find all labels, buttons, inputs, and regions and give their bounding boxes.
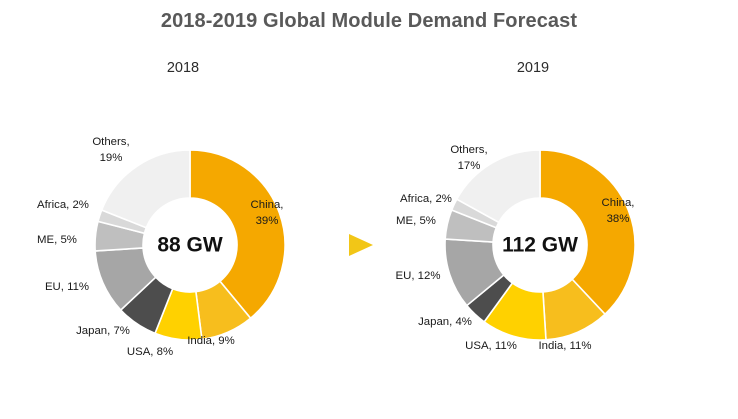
- slice-label-me-2019: ME, 5%: [396, 215, 436, 227]
- slice-label-china-2019-line2: 38%: [607, 213, 630, 225]
- slice-label-africa-2019: Africa, 2%: [400, 193, 452, 205]
- slice-label-africa-2018: Africa, 2%: [37, 199, 89, 211]
- chart-title: 2018-2019 Global Module Demand Forecast: [0, 10, 738, 33]
- slice-label-others-2018-line2: 19%: [100, 152, 123, 164]
- center-total-2018: 88 GW: [157, 234, 223, 257]
- slice-label-china-2019-line1: China,: [602, 197, 635, 209]
- donut-chart-2018: 88 GW China, 39% India, 9% USA, 8% Japan…: [35, 90, 345, 400]
- slice-label-others-2019-line2: 17%: [458, 160, 481, 172]
- slice-label-eu-2018: EU, 11%: [45, 281, 89, 293]
- slice-label-eu-2019: EU, 12%: [396, 270, 441, 282]
- slice-label-others-2018-line1: Others,: [92, 136, 129, 148]
- slice-label-india-2018: India, 9%: [187, 335, 235, 347]
- donut-chart-2019: 112 GW China, 38% India, 11% USA, 11% Ja…: [385, 90, 695, 400]
- center-total-2019: 112 GW: [502, 234, 578, 257]
- chart-canvas: 2018-2019 Global Module Demand Forecast …: [0, 0, 738, 419]
- donut-svg-2019: 112 GW China, 38% India, 11% USA, 11% Ja…: [385, 90, 695, 400]
- slice-label-others-2019-line1: Others,: [450, 144, 487, 156]
- slice-label-china-2018-line2: 39%: [256, 215, 279, 227]
- slice-label-me-2018: ME, 5%: [37, 234, 77, 246]
- slice-label-usa-2018: USA, 8%: [127, 346, 173, 358]
- slice-label-japan-2019: Japan, 4%: [418, 316, 472, 328]
- panel-label-2018: 2018: [103, 60, 263, 76]
- progression-arrow: [347, 231, 375, 259]
- slice-label-japan-2018: Japan, 7%: [76, 325, 130, 337]
- slice-label-india-2019: India, 11%: [539, 340, 592, 352]
- slice-label-usa-2019: USA, 11%: [465, 340, 517, 352]
- slice-label-china-2018-line1: China,: [251, 199, 284, 211]
- panel-label-2019: 2019: [453, 60, 613, 76]
- donut-svg-2018: 88 GW China, 39% India, 9% USA, 8% Japan…: [35, 90, 345, 400]
- arrow-triangle-shape: [349, 234, 373, 256]
- play-triangle-right-icon: [347, 231, 375, 259]
